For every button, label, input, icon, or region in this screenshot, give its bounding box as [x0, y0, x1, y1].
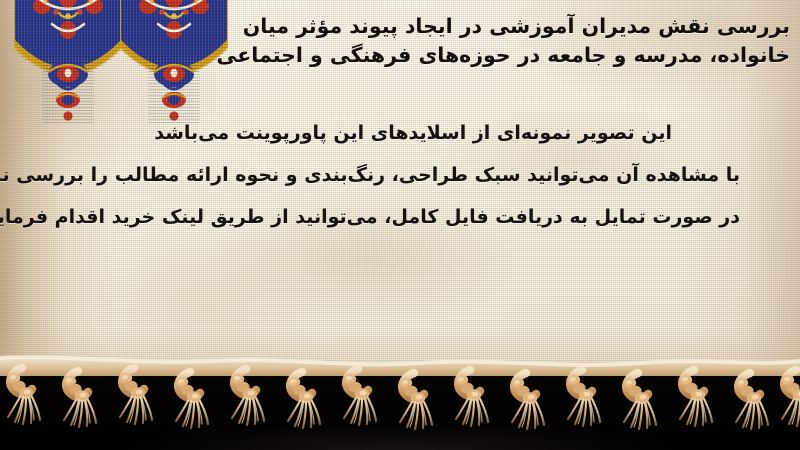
carpet-fringe: [0, 352, 800, 450]
slide-title: بررسی نقش مدیران آموزشی در ایجاد پیوند م…: [10, 12, 790, 70]
slide-body-line-1: این تصویر نمونه‌ای از اسلایدهای این پاور…: [40, 112, 672, 154]
slide-canvas: بررسی نقش مدیران آموزشی در ایجاد پیوند م…: [0, 0, 800, 450]
slide-title-line-1: بررسی نقش مدیران آموزشی در ایجاد پیوند م…: [243, 14, 790, 38]
slide-body-line-3: در صورت تمایل به دریافت فایل کامل، می‌تو…: [40, 196, 740, 238]
slide-title-line-2: خانواده، مدرسه و جامعه در حوزه‌های فرهنگ…: [10, 41, 790, 70]
fringe-tassels: [8, 368, 800, 429]
slide-body-line-2: با مشاهده آن می‌توانید سبک طراحی، رنگ‌بن…: [40, 154, 740, 196]
slide-body: این تصویر نمونه‌ای از اسلایدهای این پاور…: [40, 112, 740, 238]
